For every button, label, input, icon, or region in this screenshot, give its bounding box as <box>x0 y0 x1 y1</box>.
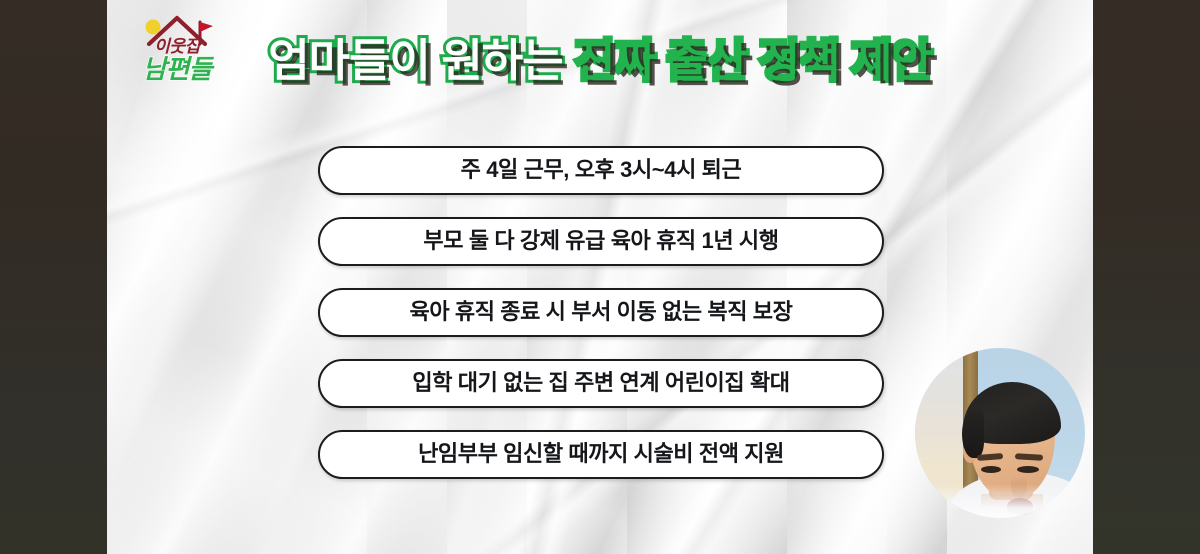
letterbox-bar-right <box>1093 0 1200 554</box>
page-title: 엄마들이 원하는 진짜 출산 정책 제안 <box>107 38 1093 83</box>
list-item: 난임부부 임신할 때까지 시술비 전액 지원 <box>318 430 884 479</box>
letterbox-bar-left <box>0 0 107 554</box>
proposal-text: 부모 둘 다 강제 유급 육아 휴직 1년 시행 <box>423 230 778 252</box>
page-title-part-white: 엄마들이 원하는 <box>268 35 574 86</box>
proposal-text: 난임부부 임신할 때까지 시술비 전액 지원 <box>418 443 784 465</box>
floor-gradient <box>915 484 1085 518</box>
person-eye-right <box>1017 466 1039 473</box>
person-hair-side <box>962 410 984 458</box>
proposal-text: 육아 휴직 종료 시 부서 이동 없는 복직 보장 <box>410 301 793 323</box>
proposal-text: 입학 대기 없는 집 주변 연계 어린이집 확대 <box>412 372 789 394</box>
sun-icon <box>146 20 161 35</box>
proposal-text: 주 4일 근무, 오후 3시~4시 퇴근 <box>461 159 742 181</box>
person-eye-left <box>981 466 1001 473</box>
list-item: 주 4일 근무, 오후 3시~4시 퇴근 <box>318 146 884 195</box>
list-item: 육아 휴직 종료 시 부서 이동 없는 복직 보장 <box>318 288 884 337</box>
content-stage: 이웃집 남편들 엄마들이 원하는 진짜 출산 정책 제안 주 4일 근무, 오후… <box>107 0 1093 554</box>
list-item: 부모 둘 다 강제 유급 육아 휴직 1년 시행 <box>318 217 884 266</box>
video-frame: 이웃집 남편들 엄마들이 원하는 진짜 출산 정책 제안 주 4일 근무, 오후… <box>0 0 1200 554</box>
reaction-cam-circle <box>915 348 1085 518</box>
list-item: 입학 대기 없는 집 주변 연계 어린이집 확대 <box>318 359 884 408</box>
reaction-cam-scene <box>915 348 1085 518</box>
page-title-part-green: 진짜 출산 정책 제안 <box>574 35 932 86</box>
proposal-list: 주 4일 근무, 오후 3시~4시 퇴근 부모 둘 다 강제 유급 육아 휴직 … <box>318 146 884 479</box>
